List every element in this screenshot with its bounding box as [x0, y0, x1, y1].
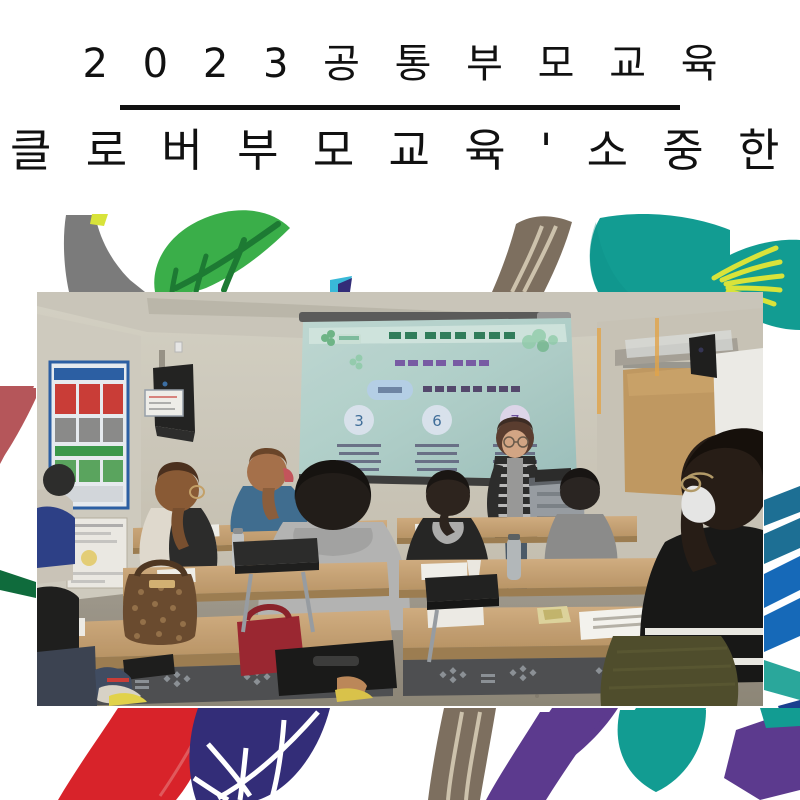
event-photo: 클로버 부모교육 강의실 사진 [37, 292, 763, 706]
poster-title-line-2: 클 로 버 부 모 교 육 ' 소 중 한 나 ' ㉣ [0, 122, 800, 180]
blue-band-4 [764, 598, 800, 652]
dark-green-leaf-left [0, 570, 36, 598]
steel-blue-band-1 [764, 486, 800, 526]
steel-blue-band-2 [764, 518, 800, 564]
teal-leaf-yellow-vein-4 [728, 288, 780, 290]
poster-canvas: 클로버 부모교육 강의실 사진 [0, 0, 800, 800]
teal-sliver-far-right [760, 708, 800, 728]
blue-striped-leaves-right [764, 486, 800, 700]
purple-leaf-bottom-right-b [486, 712, 606, 800]
navy-leaf-bottom [189, 708, 330, 800]
title-divider-rule [120, 105, 680, 110]
teal-band-5 [764, 660, 800, 700]
teal-leaf-bottom-right-b [618, 710, 706, 792]
blue-band-3 [764, 556, 800, 608]
poster-title-block: 2 0 2 3 공 통 부 모 교 육 클 로 버 부 모 교 육 ' 소 중 … [0, 0, 800, 200]
poster-title-line-1: 2 0 2 3 공 통 부 모 교 육 [0, 38, 800, 90]
red-leaf-left-2 [0, 386, 34, 464]
yellow-sliver-top-left [90, 214, 108, 226]
